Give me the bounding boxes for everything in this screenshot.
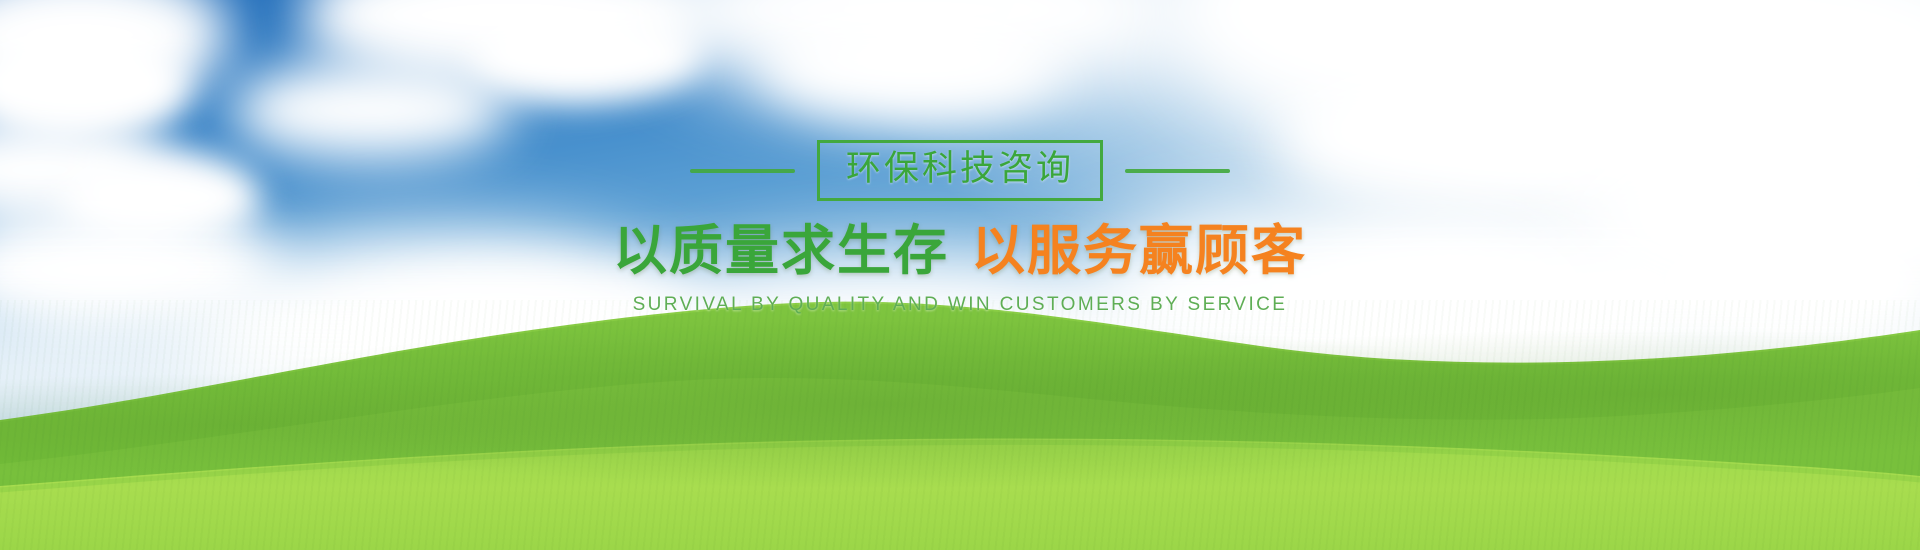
subtitle: SURVIVAL BY QUALITY AND WIN CUSTOMERS BY…: [633, 294, 1288, 316]
badge-frame: 环保科技咨询: [817, 140, 1103, 201]
banner-content: 环保科技咨询 以质量求生存以服务赢顾客 SURVIVAL BY QUALITY …: [0, 140, 1920, 316]
rule-right-decoration: [1125, 169, 1230, 173]
headline: 以质量求生存以服务赢顾客: [613, 223, 1307, 280]
headline-green-part: 以质量求生存: [613, 221, 949, 281]
eyebrow-row: 环保科技咨询: [690, 140, 1230, 201]
hero-banner: 环保科技咨询 以质量求生存以服务赢顾客 SURVIVAL BY QUALITY …: [0, 0, 1920, 550]
headline-orange-part: 以服务赢顾客: [971, 221, 1307, 281]
rule-left-decoration: [690, 169, 795, 173]
badge-label: 环保科技咨询: [846, 149, 1074, 188]
cloud-shape: [760, 10, 1060, 120]
